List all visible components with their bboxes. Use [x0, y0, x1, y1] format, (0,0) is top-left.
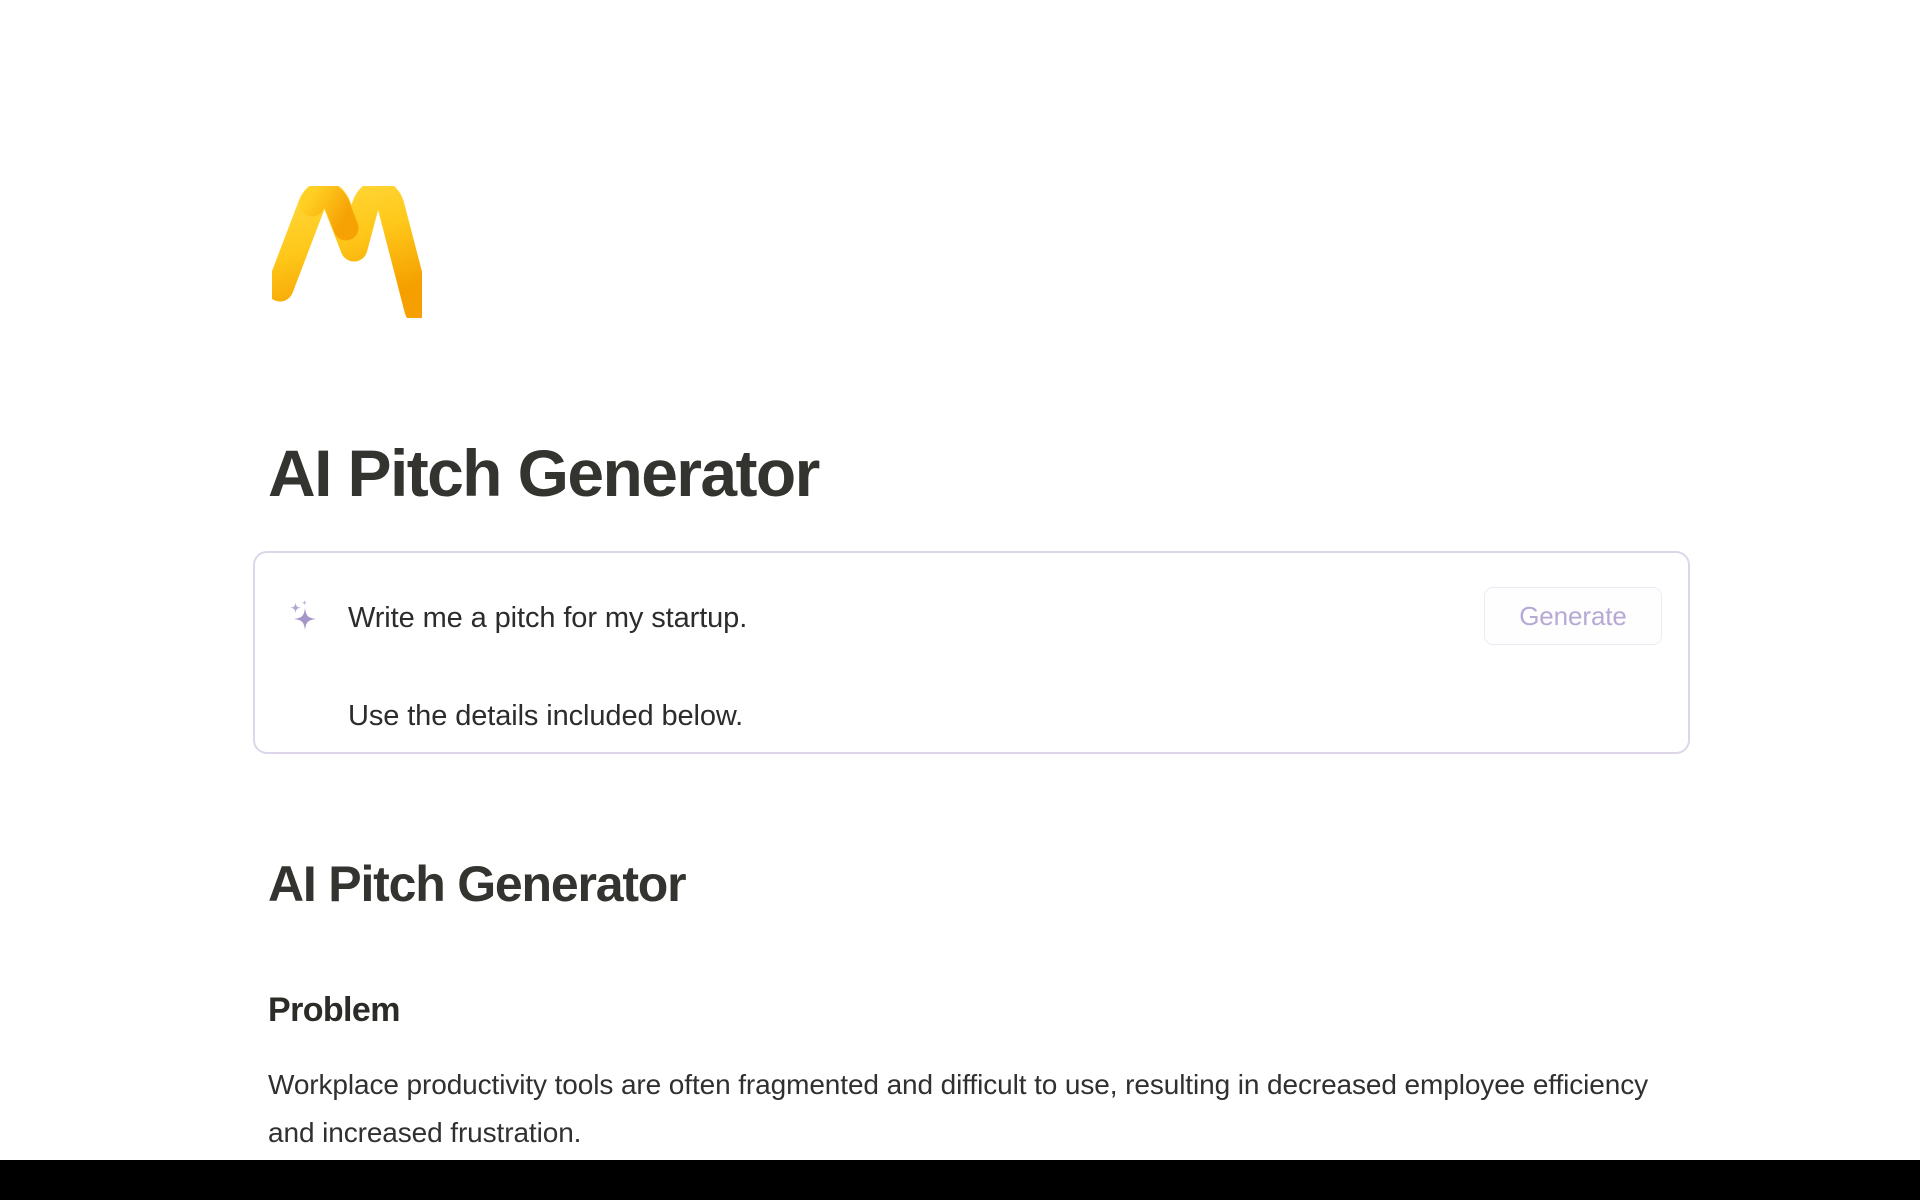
- prompt-card-inner: Write me a pitch for my startup. Use the…: [255, 553, 1688, 752]
- ai-sparkle-icon: [283, 597, 327, 641]
- page-title: AI Pitch Generator: [268, 434, 819, 512]
- section-body-problem: Workplace productivity tools are often f…: [268, 1061, 1668, 1157]
- prompt-text-line-1[interactable]: Write me a pitch for my startup.: [348, 596, 747, 640]
- bottom-black-band: [0, 1160, 1920, 1200]
- prompt-card[interactable]: Write me a pitch for my startup. Use the…: [253, 551, 1690, 754]
- document-title: AI Pitch Generator: [268, 853, 685, 915]
- mem-logo-icon: [272, 186, 422, 318]
- page-canvas: AI Pitch Generator Write me a pitch for …: [0, 0, 1920, 1160]
- app-logo: [272, 186, 422, 318]
- prompt-text-line-2[interactable]: Use the details included below.: [348, 694, 743, 738]
- generate-button[interactable]: Generate: [1484, 587, 1662, 645]
- section-heading-problem: Problem: [268, 988, 400, 1032]
